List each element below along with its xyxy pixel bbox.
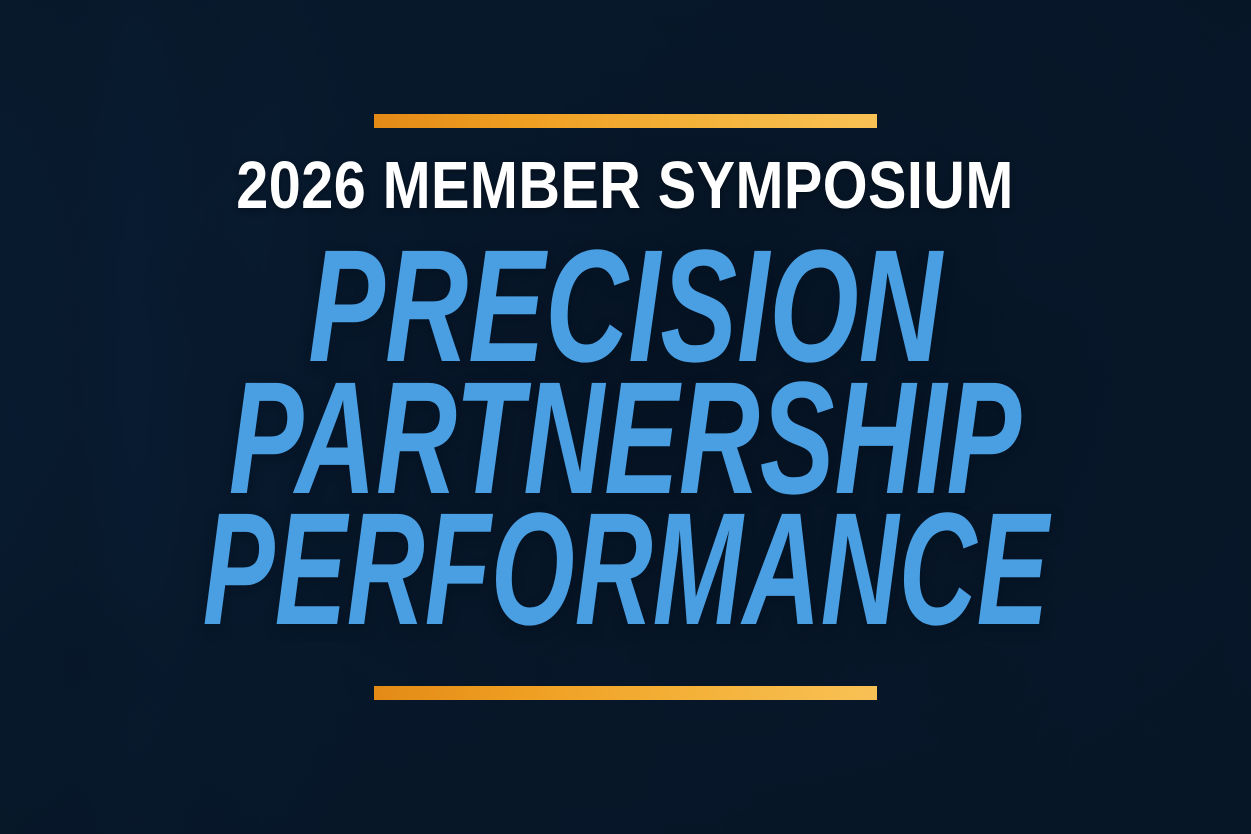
headline-block: PRECISION PARTNERSHIP PERFORMANCE <box>0 237 1251 638</box>
top-accent-rule <box>374 114 877 128</box>
headline-line-performance: PERFORMANCE <box>202 500 1048 638</box>
event-eyebrow-title: 2026 MEMBER SYMPOSIUM <box>237 152 1014 219</box>
event-promo-poster: 2026 MEMBER SYMPOSIUM PRECISION PARTNERS… <box>0 0 1251 834</box>
bottom-accent-rule <box>374 686 877 700</box>
poster-content: 2026 MEMBER SYMPOSIUM PRECISION PARTNERS… <box>0 0 1251 834</box>
